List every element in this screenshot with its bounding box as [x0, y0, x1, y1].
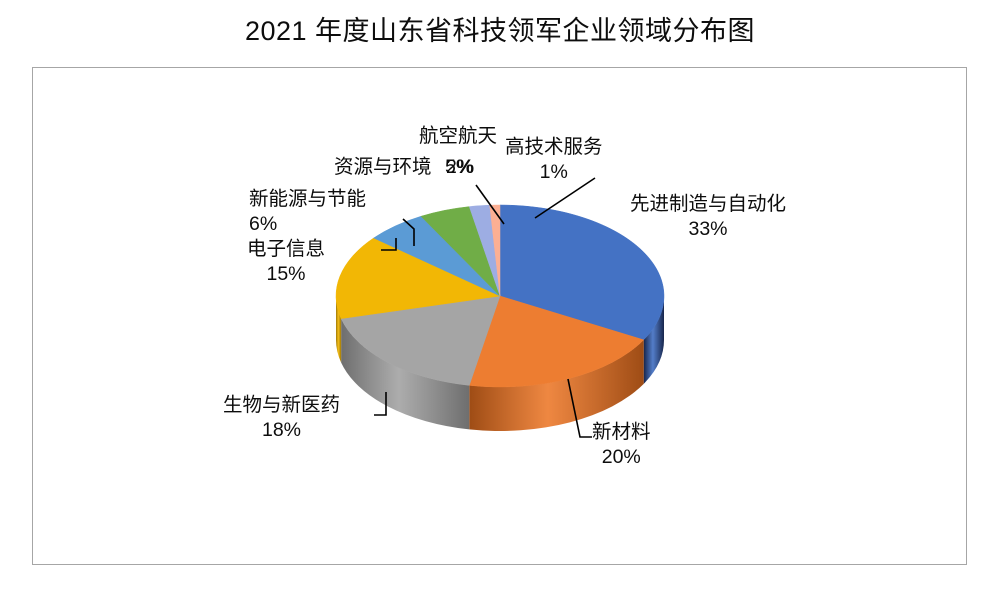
pie-label-new-energy-name: 新能源与节能 — [249, 187, 366, 212]
pie-label-new-energy: 新能源与节能 6% — [249, 187, 366, 237]
pie-label-resources-environment-name: 资源与环境 — [334, 155, 432, 180]
pie-label-biomedicine-pct: 18% — [223, 418, 340, 443]
chart-plot-area — [32, 67, 967, 565]
pie-label-aerospace-name: 航空航天 — [419, 124, 497, 149]
pie-label-biomedicine-name: 生物与新医药 — [223, 393, 340, 418]
pie-label-hitech-services-pct: 1% — [505, 160, 603, 185]
pie-label-hitech-services: 高技术服务 1% — [505, 135, 603, 185]
pie-label-electronic-information-name: 电子信息 — [247, 237, 325, 262]
pie-label-new-materials: 新材料 20% — [592, 420, 651, 470]
pie-label-advanced-manufacturing-name: 先进制造与自动化 — [630, 192, 786, 217]
pie-label-aerospace: 航空航天 — [419, 124, 497, 149]
pie-label-advanced-manufacturing-pct: 33% — [630, 217, 786, 242]
pie-label-new-energy-pct: 6% — [249, 212, 366, 237]
pie-label-aerospace-pct-wrap: 2% — [446, 155, 474, 180]
pie-label-resources-environment: 资源与环境 — [334, 155, 432, 180]
pie-label-advanced-manufacturing: 先进制造与自动化 33% — [630, 192, 786, 242]
pie-label-electronic-information: 电子信息 15% — [247, 237, 325, 287]
pie-label-biomedicine: 生物与新医药 18% — [223, 393, 340, 443]
pie-label-hitech-services-name: 高技术服务 — [505, 135, 603, 160]
page-title: 2021 年度山东省科技领军企业领域分布图 — [0, 14, 1000, 48]
pie-label-new-materials-pct: 20% — [592, 445, 651, 470]
pie-label-new-materials-name: 新材料 — [592, 420, 651, 445]
pie-label-electronic-information-pct: 15% — [247, 262, 325, 287]
pie-label-aerospace-pct: 2% — [446, 155, 474, 180]
